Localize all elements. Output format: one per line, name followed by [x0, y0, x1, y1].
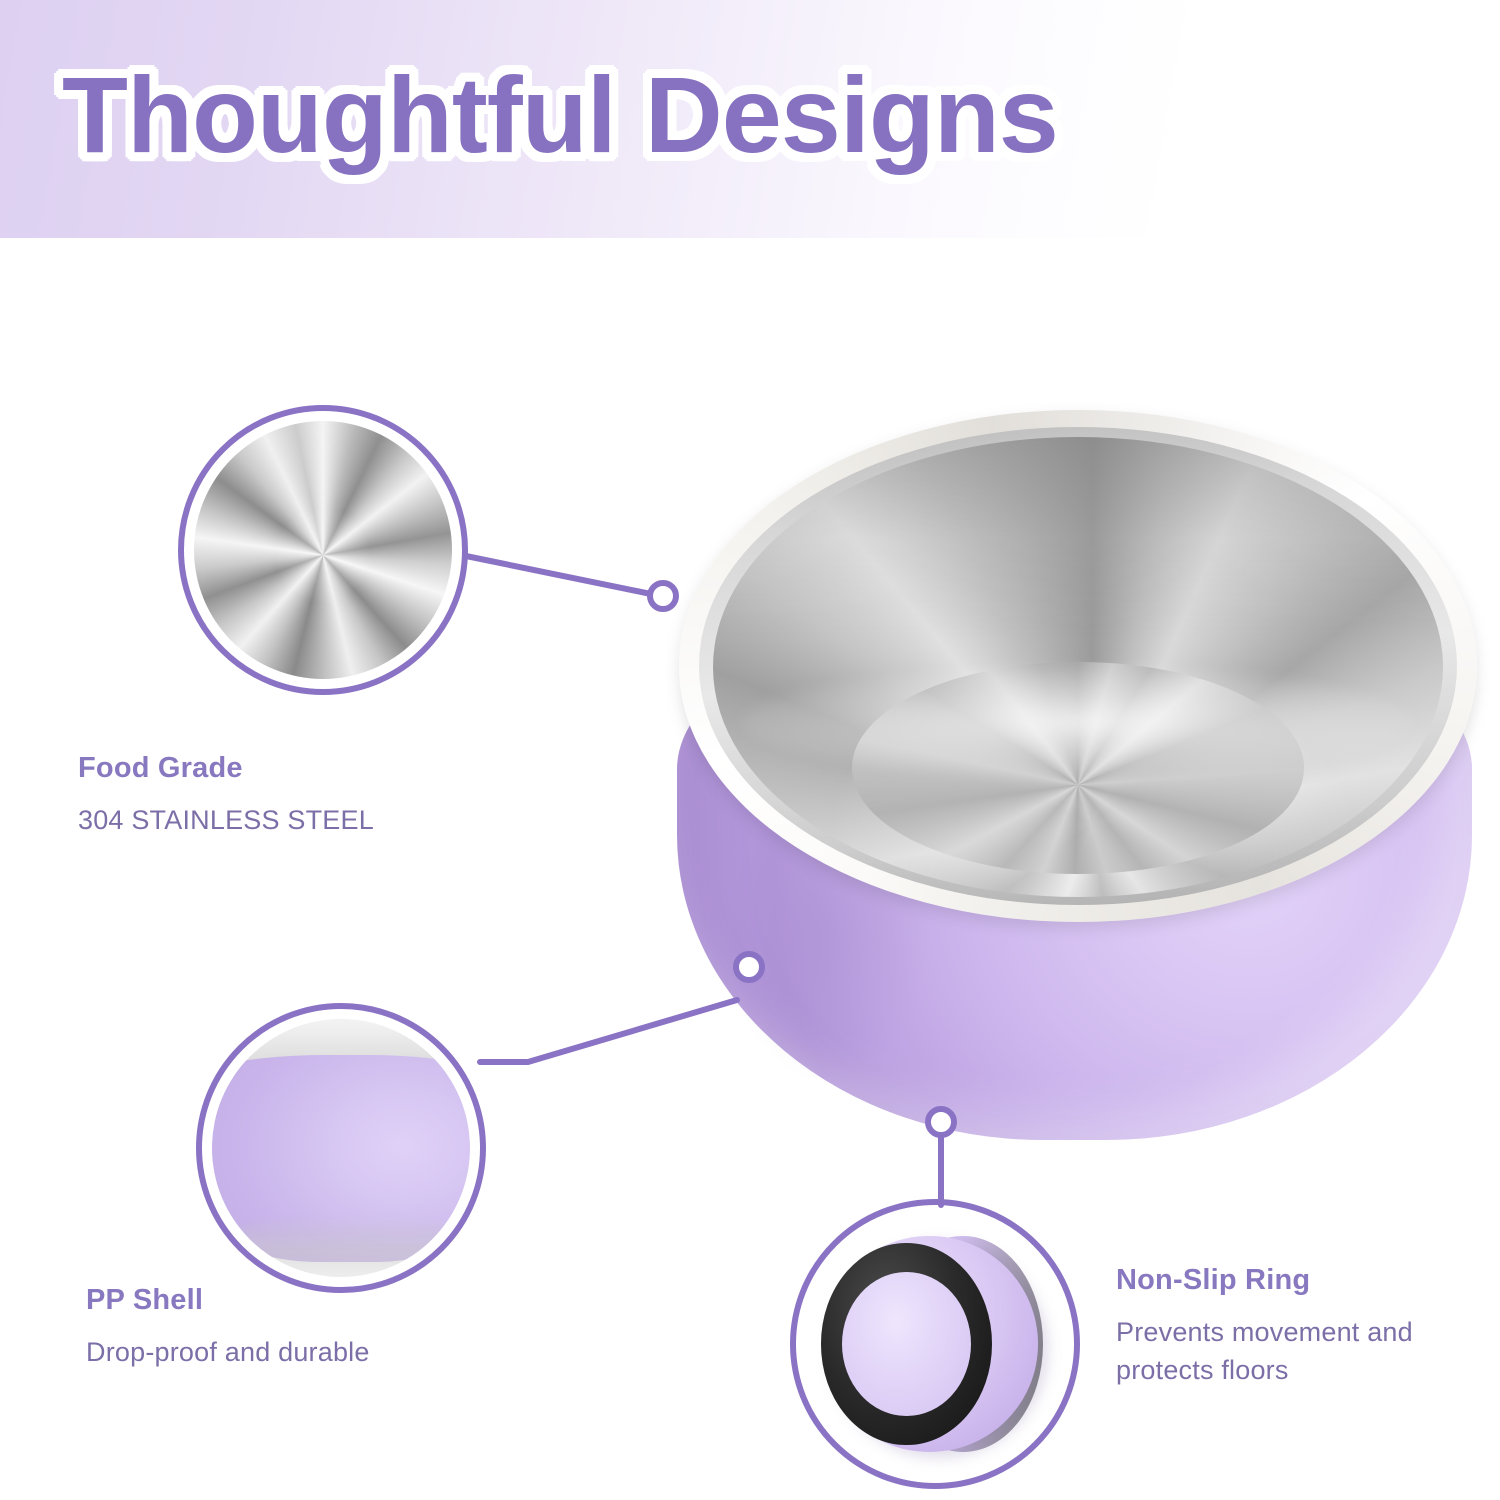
infographic-canvas: Thoughtful Designs	[0, 0, 1500, 1500]
feature-label-food-grade: Food Grade 304 STAINLESS STEEL	[78, 752, 374, 839]
bowl-interior-base	[852, 662, 1305, 874]
feature-title-pp-shell: PP Shell	[86, 1284, 370, 1317]
bowl-steel-interior	[713, 437, 1443, 897]
callout-circle-pp-shell	[196, 1003, 486, 1293]
feature-desc-non-slip-ring-line2: protects floors	[1116, 1351, 1486, 1389]
product-bowl-image	[655, 405, 1500, 1140]
feature-desc-non-slip-ring-line1: Prevents movement and	[1116, 1313, 1486, 1351]
callout-circle-non-slip-ring	[790, 1199, 1080, 1489]
connector-food-grade	[466, 556, 676, 609]
feature-label-pp-shell: PP Shell Drop-proof and durable	[86, 1284, 370, 1371]
callout-ring-border	[178, 405, 468, 695]
callout-ring-border	[790, 1199, 1080, 1489]
feature-title-non-slip-ring: Non-Slip Ring	[1116, 1264, 1486, 1297]
page-title: Thoughtful Designs	[62, 52, 1058, 177]
callout-ring-border	[196, 1003, 486, 1293]
callout-circle-food-grade	[178, 405, 468, 695]
feature-desc-food-grade: 304 STAINLESS STEEL	[78, 801, 374, 839]
feature-desc-pp-shell: Drop-proof and durable	[86, 1333, 370, 1371]
feature-label-non-slip-ring: Non-Slip Ring Prevents movement and prot…	[1116, 1264, 1486, 1390]
header-banner: Thoughtful Designs	[0, 0, 1500, 238]
feature-title-food-grade: Food Grade	[78, 752, 374, 785]
